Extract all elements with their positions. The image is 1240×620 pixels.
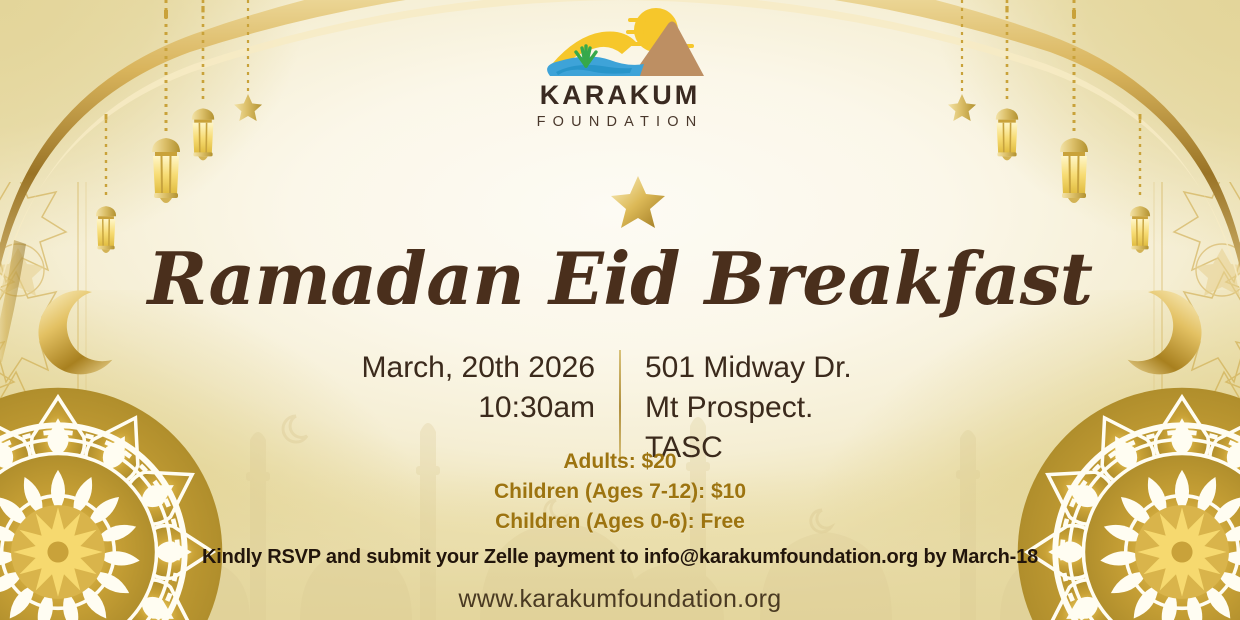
logo-subtitle: FOUNDATION: [460, 114, 780, 130]
logo-name: KARAKUM: [460, 82, 780, 109]
rsvp-instructions: Kindly RSVP and submit your Zelle paymen…: [0, 546, 1240, 569]
pricing-list: Adults: $20 Children (Ages 7-12): $10 Ch…: [0, 447, 1240, 538]
event-time: 10:30am: [345, 388, 595, 428]
karakum-foundation-logo: KARAKUM FOUNDATION: [460, 6, 780, 130]
address-line-1: 501 Midway Dr.: [645, 348, 895, 388]
price-children-0-6: Children (Ages 0-6): Free: [0, 507, 1240, 537]
page-title: Ramadan Eid Breakfast: [0, 243, 1240, 315]
price-children-7-12: Children (Ages 7-12): $10: [0, 477, 1240, 507]
karakum-desert-logo-mark: [532, 6, 708, 80]
price-adults: Adults: $20: [0, 447, 1240, 477]
ramadan-eid-breakfast-flyer: KARAKUM FOUNDATION Ramadan Eid B: [0, 0, 1240, 620]
event-date: March, 20th 2026: [345, 348, 595, 388]
website-url: www.karakumfoundation.org: [0, 585, 1240, 614]
